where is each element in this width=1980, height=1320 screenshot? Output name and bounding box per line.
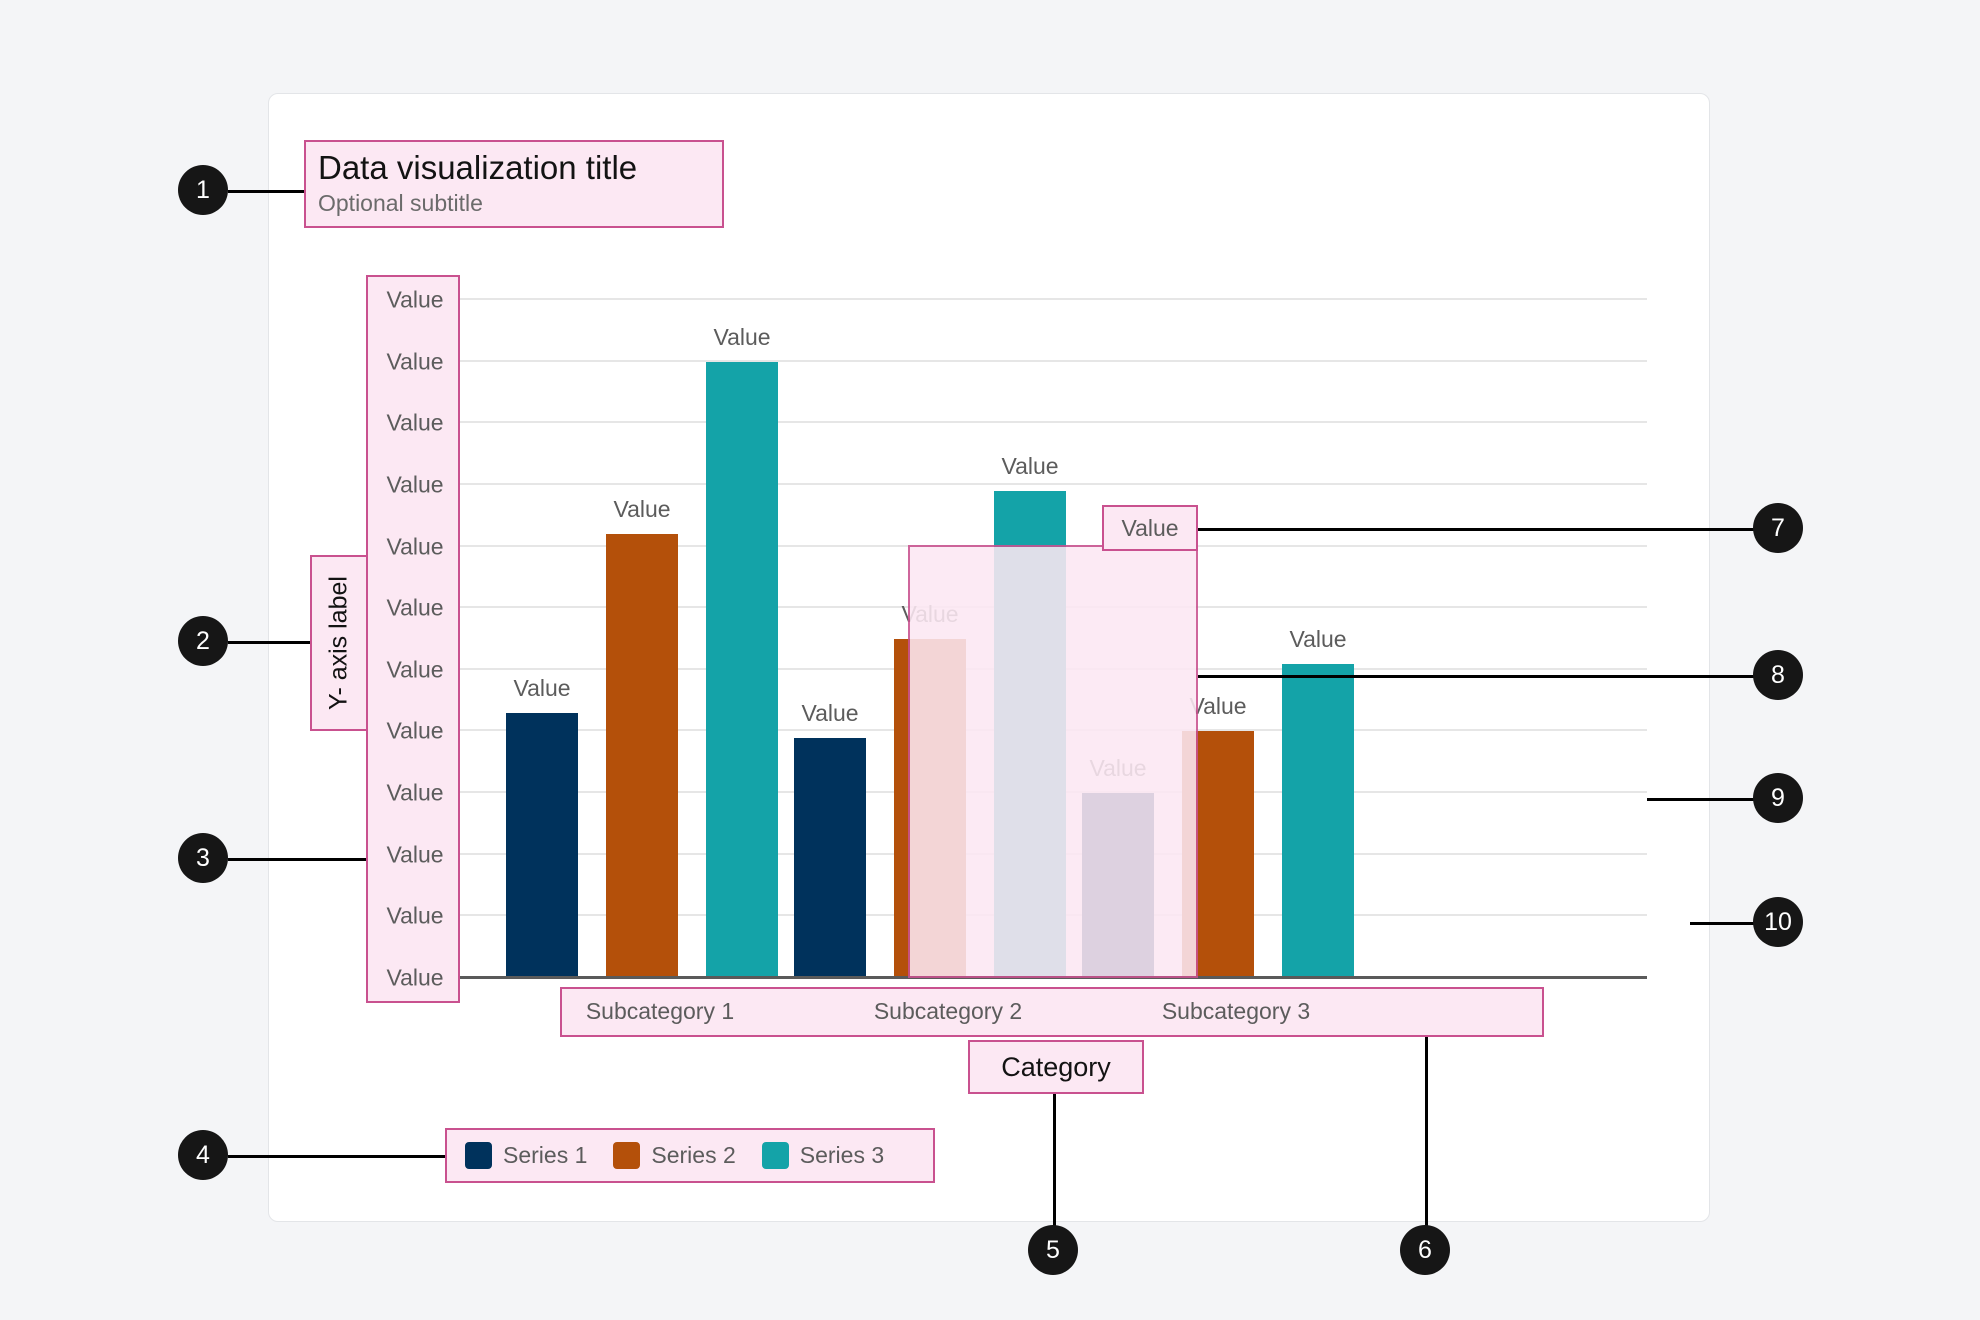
legend-swatch-icon: [465, 1142, 492, 1169]
legend-label: Series 3: [800, 1142, 884, 1169]
x-axis-labels-highlight: Subcategory 1Subcategory 2Subcategory 3: [560, 987, 1544, 1037]
callout-badge-7[interactable]: 7: [1753, 503, 1803, 553]
bar-value-label: Value: [1121, 515, 1178, 542]
callout-badge-3[interactable]: 3: [178, 833, 228, 883]
callout-leader-line: [228, 190, 304, 193]
callout-badge-8[interactable]: 8: [1753, 650, 1803, 700]
gridline: [460, 421, 1647, 423]
y-axis-tick-label: Value: [368, 656, 462, 683]
bar-value-label: Value: [965, 453, 1095, 480]
bar-value-label: Value: [677, 324, 807, 351]
y-axis-tick-label: Value: [368, 718, 462, 745]
callout-leader-line: [1425, 1037, 1428, 1228]
y-axis-tick-label: Value: [368, 348, 462, 375]
callout-leader-line: [1690, 922, 1756, 925]
callout-badge-2[interactable]: 2: [178, 616, 228, 666]
y-axis-tick-label: Value: [368, 471, 462, 498]
bar-value-label: Value: [1253, 626, 1383, 653]
bar-value-label-highlight: Value: [1102, 505, 1198, 551]
legend: Series 1Series 2Series 3: [445, 1128, 935, 1183]
y-axis-tick-label: Value: [368, 595, 462, 622]
callout-leader-line: [1053, 1094, 1056, 1228]
callout-leader-line: [228, 858, 366, 861]
callout-leader-line: [228, 1155, 445, 1158]
y-axis-tick-labels-highlight: ValueValueValueValueValueValueValueValue…: [366, 275, 460, 1003]
x-axis-tick-label: Subcategory 2: [798, 998, 1098, 1025]
callout-badge-4[interactable]: 4: [178, 1130, 228, 1180]
legend-label: Series 2: [651, 1142, 735, 1169]
callout-badge-1[interactable]: 1: [178, 165, 228, 215]
y-axis-tick-label: Value: [368, 965, 462, 992]
legend-swatch-icon: [613, 1142, 640, 1169]
series-group-highlight: [908, 545, 1198, 978]
callout-badge-10[interactable]: 10: [1753, 897, 1803, 947]
legend-item[interactable]: Series 3: [762, 1142, 884, 1169]
y-axis-tick-label: Value: [368, 410, 462, 437]
x-axis-title: Category: [1001, 1052, 1111, 1083]
bar[interactable]: [606, 534, 678, 978]
page-title: Data visualization title: [318, 148, 710, 188]
legend-swatch-icon: [762, 1142, 789, 1169]
legend-item[interactable]: Series 2: [613, 1142, 735, 1169]
callout-leader-line: [1647, 798, 1756, 801]
legend-item[interactable]: Series 1: [465, 1142, 587, 1169]
gridline: [460, 360, 1647, 362]
x-axis-tick-label: Subcategory 3: [1086, 998, 1386, 1025]
bar-value-label: Value: [477, 675, 607, 702]
callout-badge-9[interactable]: 9: [1753, 773, 1803, 823]
x-axis-title-highlight: Category: [968, 1040, 1144, 1094]
y-axis-title-highlight: Y- axis label: [310, 555, 368, 731]
gridline: [460, 298, 1647, 300]
y-axis-tick-label: Value: [368, 287, 462, 314]
callout-leader-line: [228, 641, 310, 644]
bar[interactable]: [706, 362, 778, 978]
y-axis-title: Y- axis label: [325, 576, 354, 710]
bar[interactable]: [506, 713, 578, 978]
bar[interactable]: [1282, 664, 1354, 978]
legend-label: Series 1: [503, 1142, 587, 1169]
gridline: [460, 483, 1647, 485]
y-axis-tick-label: Value: [368, 903, 462, 930]
y-axis-tick-label: Value: [368, 841, 462, 868]
callout-leader-line: [1198, 528, 1756, 531]
y-axis-tick-label: Value: [368, 780, 462, 807]
y-axis-tick-label: Value: [368, 533, 462, 560]
callout-badge-6[interactable]: 6: [1400, 1225, 1450, 1275]
title-highlight-box: Data visualization title Optional subtit…: [304, 140, 724, 228]
callout-badge-5[interactable]: 5: [1028, 1225, 1078, 1275]
x-axis-tick-label: Subcategory 1: [510, 998, 810, 1025]
bar-value-label: Value: [577, 496, 707, 523]
bar[interactable]: [794, 738, 866, 978]
bar-value-label: Value: [765, 700, 895, 727]
callout-leader-line: [1198, 675, 1756, 678]
page-subtitle: Optional subtitle: [318, 188, 710, 218]
